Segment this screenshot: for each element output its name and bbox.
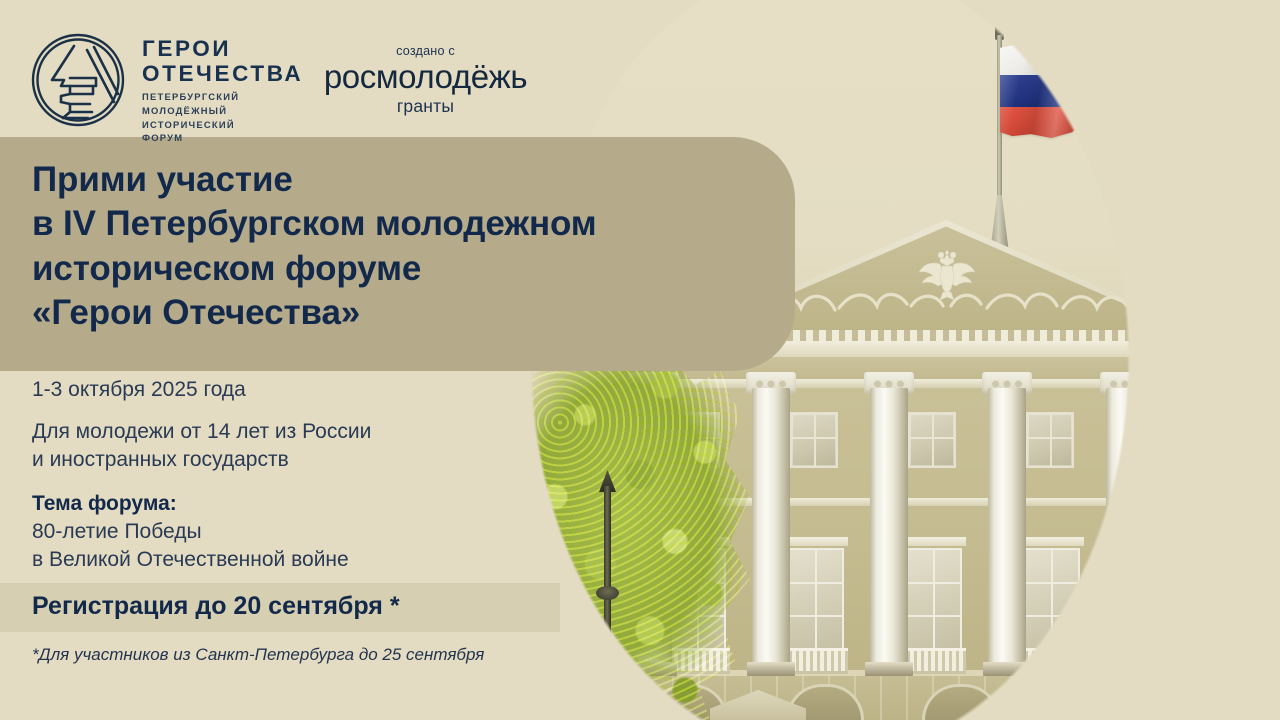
soldier-profile-emblem-icon — [30, 32, 126, 128]
event-date: 1-3 октября 2025 года — [32, 378, 502, 402]
street-lamp-knob — [596, 586, 619, 600]
event-details: 1-3 октября 2025 года Для молодежи от 14… — [32, 378, 502, 574]
sponsor-prefix: создано с — [318, 44, 533, 58]
upper-window — [1144, 412, 1192, 468]
sponsor-name: росмолодёжь — [318, 60, 533, 95]
headline-line-3: историческом форуме — [32, 247, 792, 291]
logo-title-line-2: ОТЕЧЕСТВА — [142, 61, 303, 86]
column-base — [1101, 662, 1149, 676]
logo-subtitle-line-4: ФОРУМ — [142, 131, 239, 145]
headline-line-2: в IV Петербургском молодежном — [32, 202, 792, 246]
column — [870, 388, 908, 680]
theme-line-2: в Великой Отечественной войне — [32, 546, 502, 574]
theme-line-1: 80-летие Победы — [32, 518, 502, 546]
tall-window — [1140, 548, 1198, 660]
tall-window — [1022, 548, 1080, 660]
upper-window — [1026, 412, 1074, 468]
theme-label: Тема форума: — [32, 492, 502, 516]
theme-value: 80-летие Победы в Великой Отечественной … — [32, 518, 502, 574]
upper-window — [790, 412, 838, 468]
attic-block-right — [1206, 236, 1240, 265]
logo-subtitle: ПЕТЕРБУРГСКИЙ МОЛОДЁЖНЫЙ ИСТОРИЧЕСКИЙ ФО… — [142, 90, 239, 145]
sponsor-suffix: гранты — [318, 96, 533, 117]
column-base — [747, 662, 795, 676]
column-base — [983, 662, 1031, 676]
upper-window — [908, 412, 956, 468]
column — [1106, 388, 1144, 680]
logo-subtitle-line-2: МОЛОДЁЖНЫЙ — [142, 104, 239, 118]
attic-block-far-right — [1248, 252, 1276, 285]
headline-line-1: Прими участие — [32, 158, 792, 202]
column — [752, 388, 790, 680]
street-lamp-post — [604, 486, 611, 720]
registration-footnote: *Для участников из Санкт-Петербурга до 2… — [32, 645, 484, 665]
sponsor-logo: создано с росмолодёжь гранты — [318, 44, 533, 122]
logo-title-line-1: ГЕРОИ — [142, 36, 303, 61]
column — [1224, 388, 1262, 680]
page-title: Прими участие в IV Петербургском молодеж… — [32, 158, 792, 336]
event-audience: Для молодежи от 14 лет из России и иност… — [32, 418, 502, 474]
column-base — [865, 662, 913, 676]
audience-line-2: и иностранных государств — [32, 446, 502, 474]
tall-window — [786, 548, 844, 660]
column — [988, 388, 1026, 680]
tree-foliage-texture — [510, 348, 760, 720]
audience-line-1: Для молодежи от 14 лет из России — [32, 418, 502, 446]
headline-line-4: «Герои Отечества» — [32, 291, 792, 335]
logo-title: ГЕРОИ ОТЕЧЕСТВА — [142, 36, 303, 87]
logo-subtitle-line-1: ПЕТЕРБУРГСКИЙ — [142, 90, 239, 104]
russian-flag-icon — [1000, 42, 1103, 140]
registration-deadline: Регистрация до 20 сентября * — [32, 592, 400, 621]
poster-root: Прими участие в IV Петербургском молодеж… — [0, 0, 1280, 720]
logo-subtitle-line-3: ИСТОРИЧЕСКИЙ — [142, 118, 239, 132]
column-base — [1219, 662, 1267, 676]
tall-window — [904, 548, 962, 660]
forum-logo: ГЕРОИ ОТЕЧЕСТВА ПЕТЕРБУРГСКИЙ МОЛОДЁЖНЫЙ… — [30, 30, 280, 138]
